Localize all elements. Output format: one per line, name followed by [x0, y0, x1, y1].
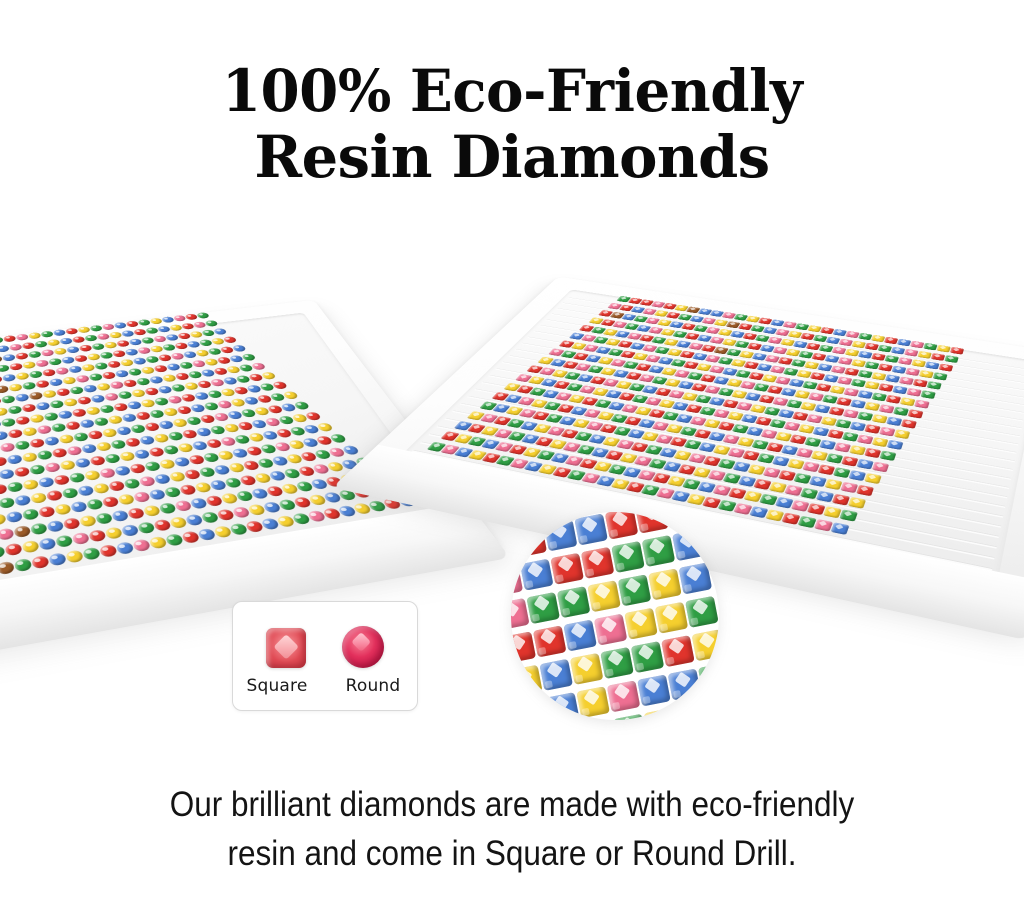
- magnified-square-bead: [685, 596, 719, 628]
- product-description: Our brilliant diamonds are made with eco…: [0, 780, 1024, 878]
- magnified-square-bead: [513, 525, 547, 557]
- page-title: 100% Eco-Friendly Resin Diamonds: [0, 58, 1024, 190]
- headline-line-1: 100% Eco-Friendly: [15, 58, 1008, 124]
- magnified-square-bead: [631, 641, 665, 673]
- magnified-square-bead: [666, 512, 700, 528]
- magnified-square-bead: [648, 568, 682, 600]
- magnified-square-bead: [705, 696, 719, 720]
- magnified-square-bead: [600, 647, 634, 679]
- magnified-square-bead: [674, 702, 708, 720]
- magnified-square-bead: [533, 625, 567, 657]
- magnified-square-bead: [574, 513, 608, 545]
- legend-label-round: Round: [336, 676, 410, 696]
- magnified-square-bead: [607, 680, 641, 712]
- magnifier-inset: [511, 512, 719, 720]
- legend-label-row: Square Round: [233, 676, 417, 696]
- magnified-square-bead: [692, 629, 719, 661]
- drill-shape-legend: Square Round: [232, 601, 418, 711]
- magnified-square-bead: [511, 631, 536, 663]
- round-gem-icon: [342, 626, 384, 668]
- magnified-square-bead: [613, 714, 647, 720]
- magnified-square-bead: [539, 659, 573, 691]
- magnified-square-bead: [679, 562, 713, 594]
- legend-swatch-row: [233, 616, 417, 668]
- magnified-square-bead: [642, 535, 676, 567]
- magnified-square-bead: [668, 669, 702, 701]
- magnified-square-bead: [537, 512, 571, 518]
- caption-line-1: Our brilliant diamonds are made with eco…: [51, 780, 973, 829]
- magnified-square-bead: [698, 663, 719, 695]
- magnified-square-bead: [550, 553, 584, 585]
- square-gem-icon: [266, 628, 306, 668]
- magnified-square-bead: [576, 686, 610, 718]
- magnified-square-bead: [563, 620, 597, 652]
- magnified-square-bead: [511, 665, 543, 697]
- magnified-square-bead: [594, 614, 628, 646]
- magnified-square-bead: [557, 586, 591, 618]
- magnified-square-bead: [618, 574, 652, 606]
- magnified-square-bead: [605, 512, 639, 540]
- magnified-square-bead: [672, 529, 706, 561]
- magnified-square-bead: [587, 580, 621, 612]
- magnified-square-bead: [644, 708, 678, 720]
- legend-label-square: Square: [240, 676, 314, 696]
- magnified-square-bead: [611, 541, 645, 573]
- magnified-square-bead: [570, 653, 604, 685]
- magnified-square-bead: [655, 602, 689, 634]
- magnified-square-bead: [546, 692, 580, 720]
- headline-line-2: Resin Diamonds: [5, 124, 1019, 190]
- magnified-square-bead: [526, 592, 560, 624]
- magnified-square-bead: [544, 519, 578, 551]
- magnified-square-bead: [511, 512, 541, 524]
- caption-line-2: resin and come in Square or Round Drill.: [51, 829, 973, 878]
- magnified-square-bead: [635, 512, 669, 534]
- magnified-square-bead: [637, 674, 671, 706]
- magnified-square-bead: [581, 547, 615, 579]
- magnified-square-bead: [520, 559, 554, 591]
- product-marketing-image: 100% Eco-Friendly Resin Diamonds Square …: [0, 0, 1024, 922]
- magnified-square-bead: [661, 635, 695, 667]
- magnified-square-bead: [624, 608, 658, 640]
- magnified-square-drills: [511, 512, 719, 720]
- magnified-square-bead: [515, 698, 549, 720]
